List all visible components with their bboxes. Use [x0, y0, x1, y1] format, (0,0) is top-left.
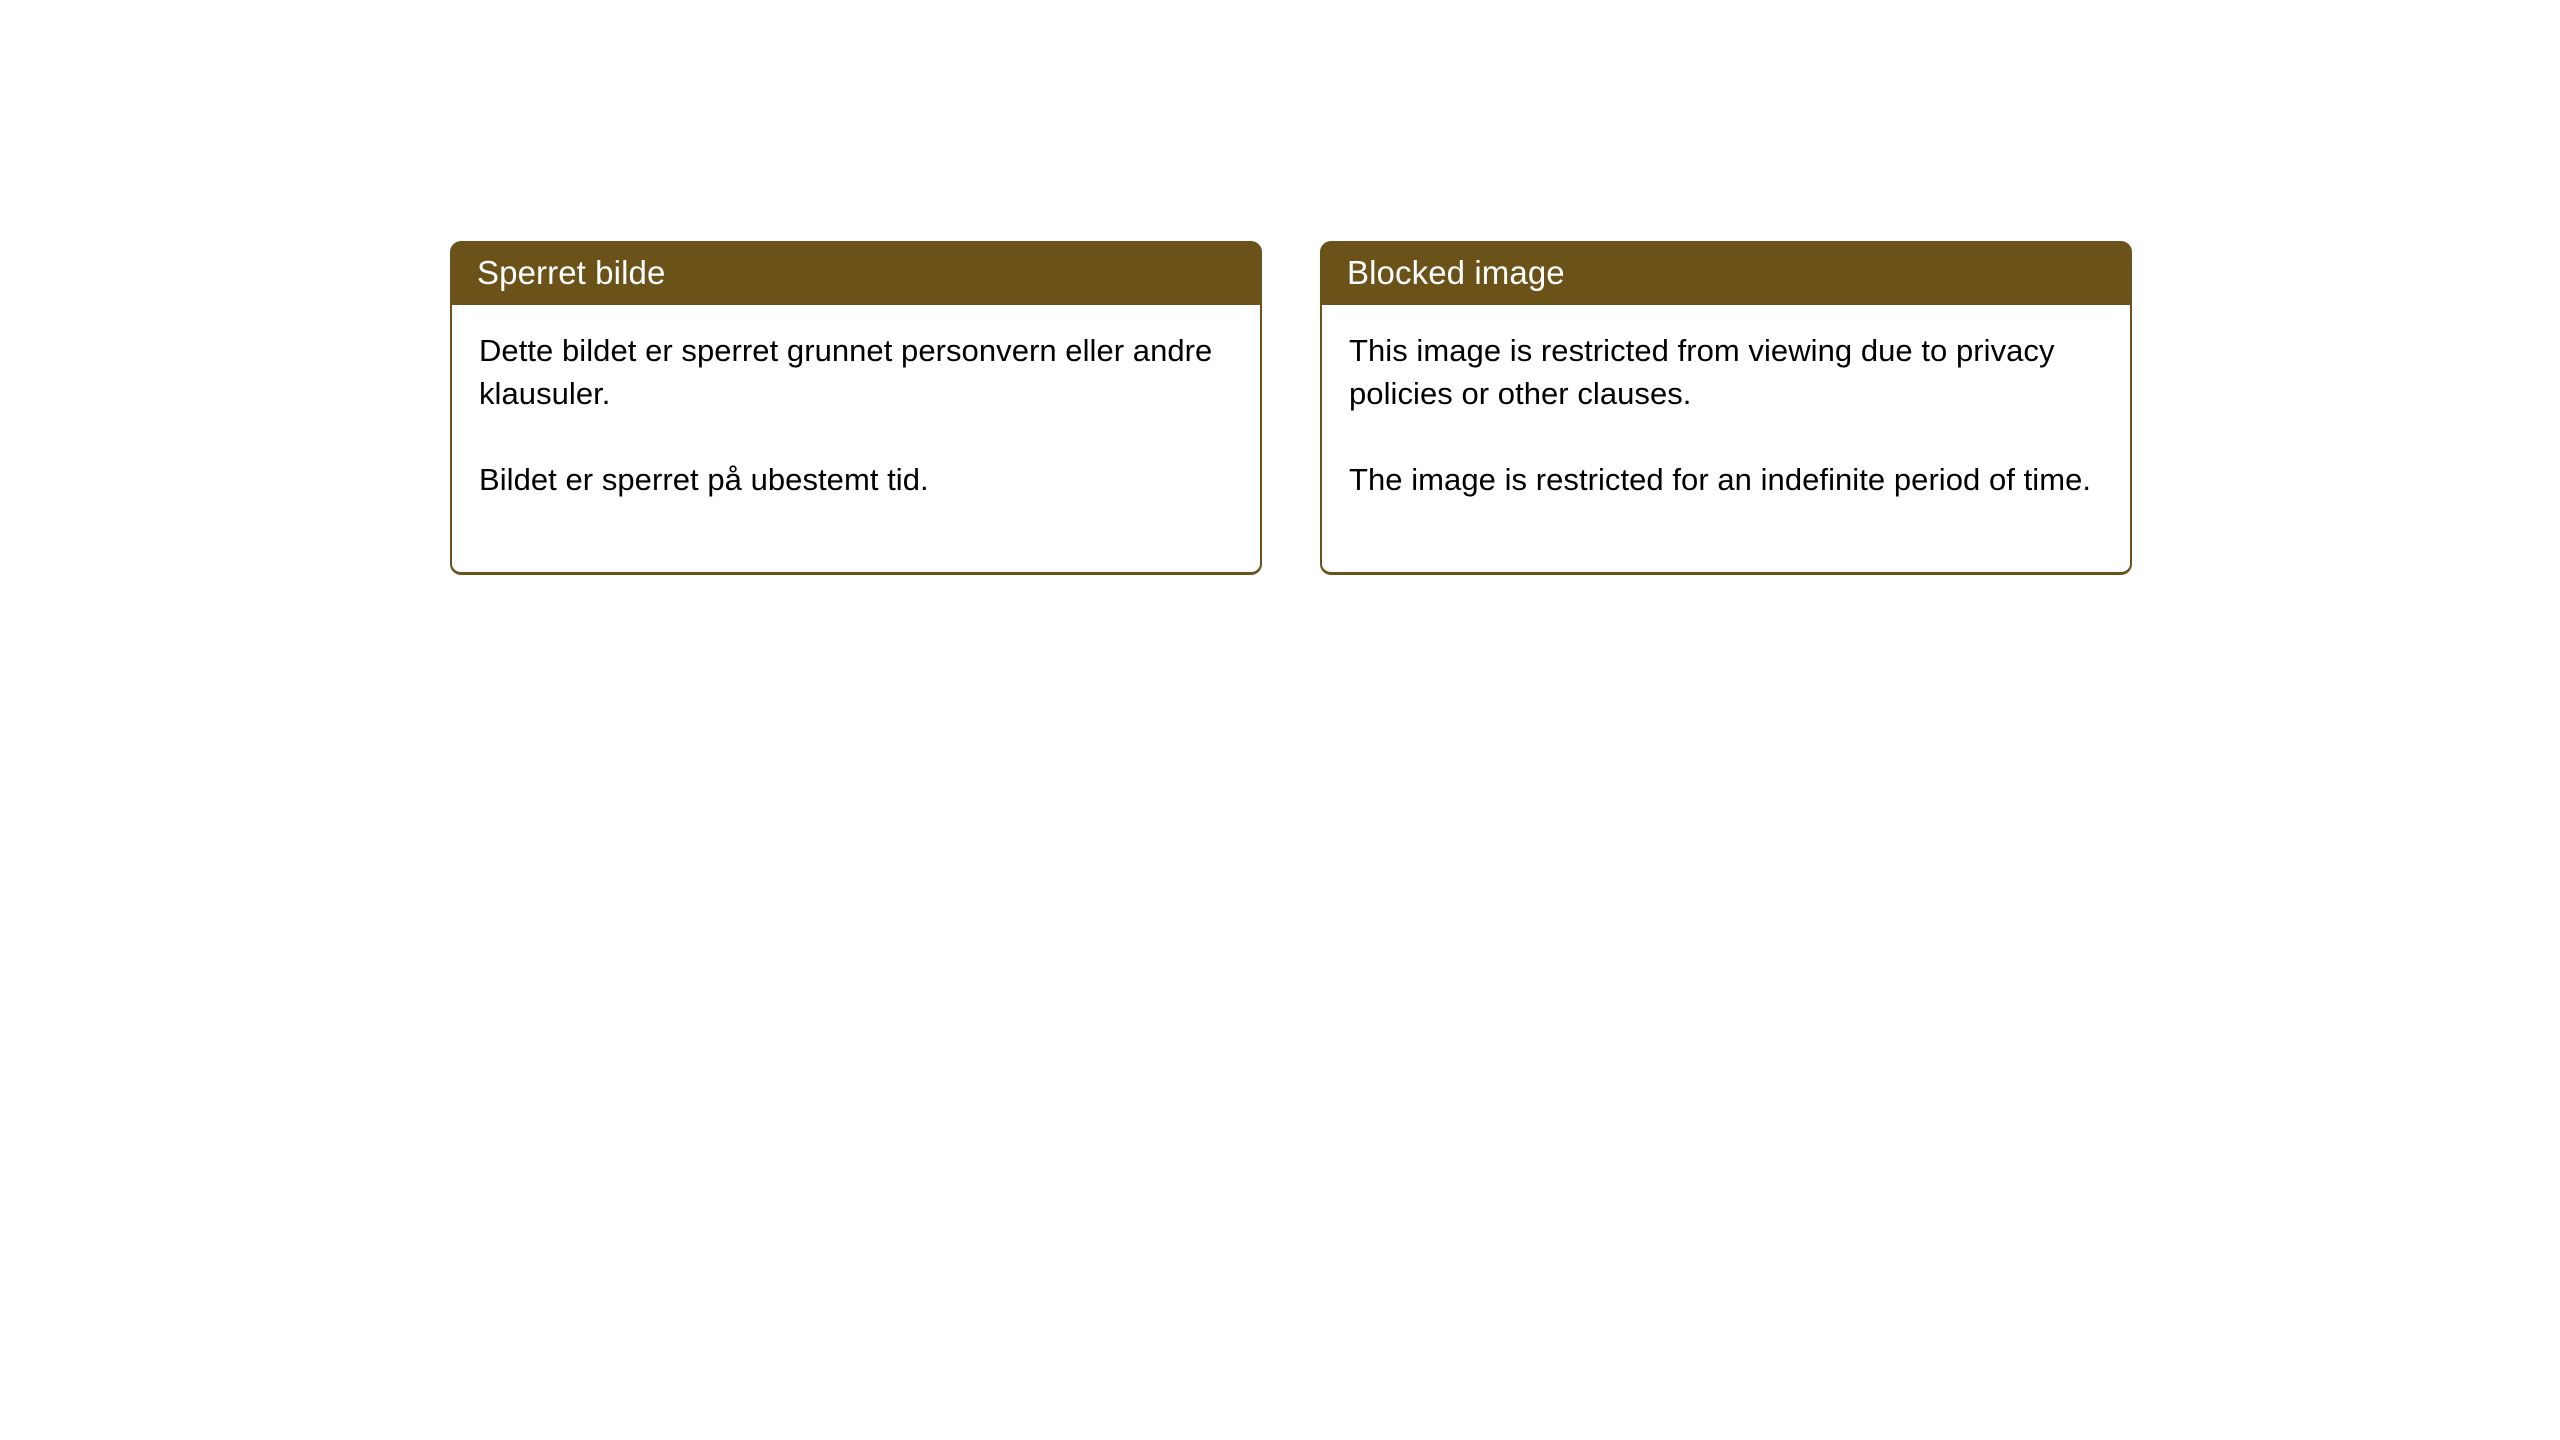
- notice-body-norwegian: Dette bildet er sperret grunnet personve…: [450, 304, 1262, 575]
- notice-paragraph-reason-english: This image is restricted from viewing du…: [1349, 329, 2106, 415]
- notice-paragraph-reason-norwegian: Dette bildet er sperret grunnet personve…: [479, 329, 1236, 415]
- paragraph-spacer: [479, 415, 1236, 458]
- blocked-image-notice-norwegian: Sperret bilde Dette bildet er sperret gr…: [450, 241, 1262, 575]
- notice-body-english: This image is restricted from viewing du…: [1320, 304, 2132, 575]
- page-canvas: Sperret bilde Dette bildet er sperret gr…: [0, 0, 2560, 1440]
- paragraph-spacer: [1349, 415, 2106, 458]
- notice-title-english: Blocked image: [1347, 255, 1565, 291]
- notice-paragraph-duration-norwegian: Bildet er sperret på ubestemt tid.: [479, 458, 1236, 501]
- blocked-image-notice-english: Blocked image This image is restricted f…: [1320, 241, 2132, 575]
- notice-header-norwegian: Sperret bilde: [450, 241, 1262, 305]
- notice-paragraph-duration-english: The image is restricted for an indefinit…: [1349, 458, 2106, 501]
- notice-title-norwegian: Sperret bilde: [477, 255, 665, 291]
- notice-header-english: Blocked image: [1320, 241, 2132, 305]
